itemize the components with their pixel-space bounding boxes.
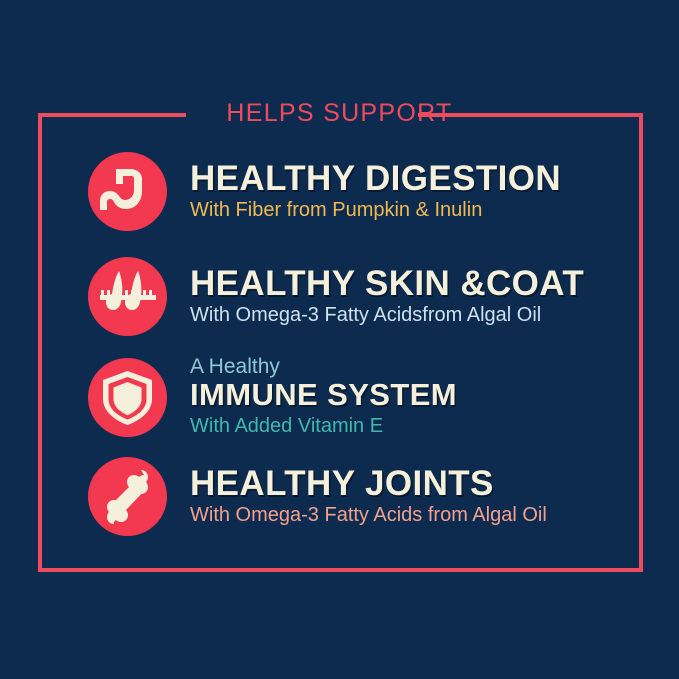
benefits-list: HEALTHY DIGESTION With Fiber from Pumpki…	[0, 0, 679, 679]
benefit-text: HEALTHY JOINTS With Omega-3 Fatty Acids …	[190, 466, 547, 528]
bone-joint-icon	[88, 457, 167, 536]
benefit-text: HEALTHY DIGESTION With Fiber from Pumpki…	[190, 161, 561, 223]
benefit-eyebrow: A Healthy	[190, 356, 457, 378]
benefit-text: HEALTHY SKIN &COAT With Omega-3 Fatty Ac…	[190, 266, 584, 328]
benefit-row-joints: HEALTHY JOINTS With Omega-3 Fatty Acids …	[88, 457, 547, 536]
benefit-subtitle: With Omega-3 Fatty Acidsfrom Algal Oil	[190, 304, 584, 328]
benefit-subtitle: With Omega-3 Fatty Acids from Algal Oil	[190, 504, 547, 528]
benefit-row-skin-coat: HEALTHY SKIN &COAT With Omega-3 Fatty Ac…	[88, 257, 584, 336]
benefit-subtitle: With Fiber from Pumpkin & Inulin	[190, 199, 561, 223]
stomach-icon	[88, 152, 167, 231]
benefit-title: IMMUNE SYSTEM	[190, 379, 457, 410]
benefits-infographic: HELPS SUPPORT HEALTHY DIGESTION With Fib…	[0, 0, 679, 679]
hair-follicle-icon	[88, 257, 167, 336]
benefit-title: HEALTHY SKIN &COAT	[190, 266, 584, 301]
benefit-row-immune: A Healthy IMMUNE SYSTEM With Added Vitam…	[88, 356, 457, 439]
shield-icon	[88, 358, 167, 437]
benefit-title: HEALTHY DIGESTION	[190, 161, 561, 196]
benefit-text: A Healthy IMMUNE SYSTEM With Added Vitam…	[190, 356, 457, 439]
benefit-row-digestion: HEALTHY DIGESTION With Fiber from Pumpki…	[88, 152, 561, 231]
benefit-title: HEALTHY JOINTS	[190, 466, 547, 501]
benefit-subtitle: With Added Vitamin E	[190, 415, 457, 439]
